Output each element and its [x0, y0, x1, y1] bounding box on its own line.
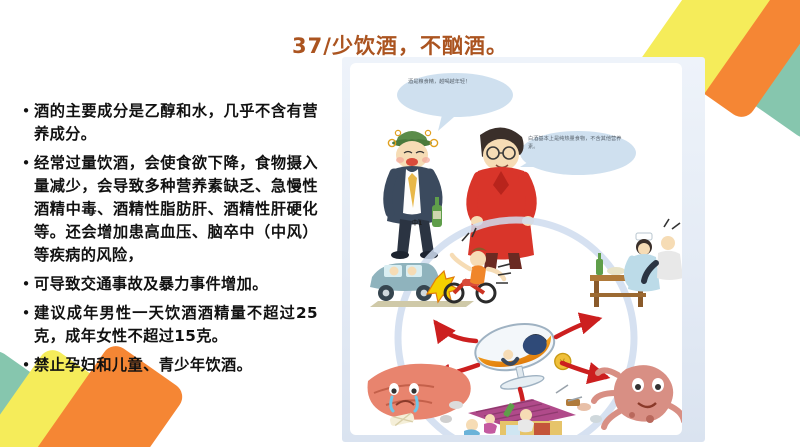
list-item: • 酒的主要成分是乙醇和水，几乎不含有营养成分。	[18, 100, 318, 146]
bullet-marker-icon: •	[18, 302, 34, 325]
list-item: • 禁止孕妇和儿童、青少年饮酒。	[18, 354, 318, 377]
illustration-panel: ¥	[342, 57, 705, 442]
bullet-marker-icon: •	[18, 152, 34, 175]
illustration-canvas: ¥	[350, 63, 682, 435]
speech-bubble-right-text: 白酒基本上是纯热量食物，不含其他营养素。	[528, 136, 624, 151]
speech-bubble-left-text: 酒是粮食精，越喝越年轻！	[408, 79, 496, 87]
slide-title: 37/少饮酒，不酗酒。	[0, 30, 800, 60]
scene-damaged-liver	[368, 364, 471, 427]
scene-damaged-stomach	[594, 365, 682, 427]
figure-drunk-man	[387, 130, 442, 259]
bullet-text: 禁止孕妇和儿童、青少年饮酒。	[34, 354, 318, 377]
bullet-marker-icon: •	[18, 273, 34, 296]
bullet-marker-icon: •	[18, 354, 34, 377]
alcohol-harm-illustration: ¥	[350, 63, 682, 435]
center-wine-glass: ¥	[471, 315, 574, 396]
list-item: • 建议成年男性一天饮酒酒精量不超过25克，成年女性不超过15克。	[18, 302, 318, 348]
bullet-list: • 酒的主要成分是乙醇和水，几乎不含有营养成分。 • 经常过量饮酒，会使食欲下降…	[18, 100, 318, 383]
bullet-text: 可导致交通事故及暴力事件增加。	[34, 273, 318, 296]
slide-canvas: 37/少饮酒，不酗酒。 • 酒的主要成分是乙醇和水，几乎不含有营养成分。 • 经…	[0, 0, 800, 447]
list-item: • 可导致交通事故及暴力事件增加。	[18, 273, 318, 296]
list-item: • 经常过量饮酒，会使食欲下降，食物摄入量减少，会导致多种营养素缺乏、急慢性酒精…	[18, 152, 318, 267]
bullet-text: 建议成年男性一天饮酒酒精量不超过25克，成年女性不超过15克。	[34, 302, 318, 348]
traffic-scene-label: 中1	[412, 218, 422, 227]
bullet-text: 酒的主要成分是乙醇和水，几乎不含有营养成分。	[34, 100, 318, 146]
bullet-text: 经常过量饮酒，会使食欲下降，食物摄入量减少，会导致多种营养素缺乏、急慢性酒精中毒…	[34, 152, 318, 267]
bullet-marker-icon: •	[18, 100, 34, 123]
